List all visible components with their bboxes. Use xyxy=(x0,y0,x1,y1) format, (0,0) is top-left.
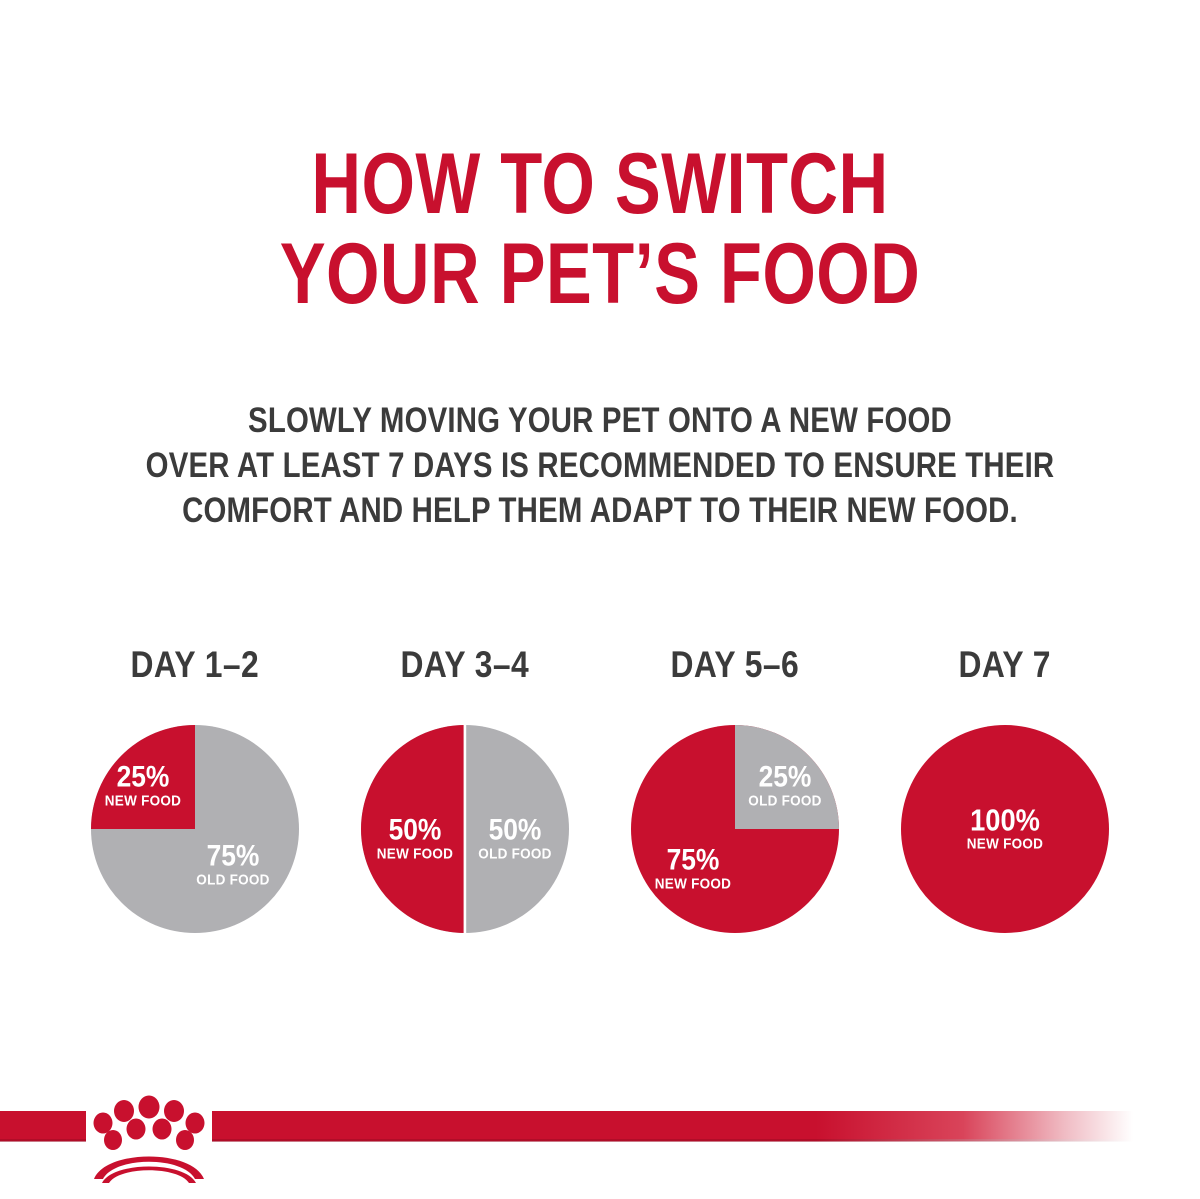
pie-slice-old-food-3 xyxy=(735,725,839,829)
pie-chart-day-7: 100% NEW FOOD xyxy=(901,725,1109,933)
royal-canin-crown-icon xyxy=(86,1093,212,1183)
pie-slice-new-food-1 xyxy=(91,725,195,829)
pie-chart-day-5-6: 25% OLD FOOD 75% NEW FOOD xyxy=(631,725,839,933)
day-label-1: DAY 1–2 xyxy=(131,645,260,685)
day-label-4: DAY 7 xyxy=(959,645,1051,685)
subtitle: SLOWLY MOVING YOUR PET ONTO A NEW FOOD O… xyxy=(0,398,1200,533)
page-title: HOW TO SWITCH YOUR PET’S FOOD xyxy=(0,139,1200,319)
chart-cell-day-3-4: DAY 3–4 50% NEW FOOD 50% OLD FOOD xyxy=(330,645,600,933)
infographic-canvas: HOW TO SWITCH YOUR PET’S FOOD SLOWLY MOV… xyxy=(0,0,1200,1199)
pie-slice-new-food-2 xyxy=(361,725,465,933)
footer xyxy=(0,1099,1200,1199)
chart-cell-day-7: DAY 7 100% NEW FOOD xyxy=(870,645,1140,933)
pie-chart-day-3-4: 50% NEW FOOD 50% OLD FOOD xyxy=(361,725,569,933)
pie-svg-1 xyxy=(91,725,299,933)
pie-svg-4 xyxy=(901,725,1109,933)
day-label-3: DAY 5–6 xyxy=(671,645,800,685)
subtitle-line-2: OVER AT LEAST 7 DAYS IS RECOMMENDED TO E… xyxy=(96,443,1104,488)
title-line-1: HOW TO SWITCH xyxy=(120,139,1080,229)
chart-cell-day-1-2: DAY 1–2 25% NEW FOOD 75% OLD FOOD xyxy=(60,645,330,933)
subtitle-line-3: COMFORT AND HELP THEM ADAPT TO THEIR NEW… xyxy=(96,488,1104,533)
title-line-2: YOUR PET’S FOOD xyxy=(120,229,1080,319)
pie-chart-row: DAY 1–2 25% NEW FOOD 75% OLD FOOD DAY 3–… xyxy=(0,645,1200,933)
pie-divider-2 xyxy=(464,725,467,933)
day-label-2: DAY 3–4 xyxy=(401,645,530,685)
pie-slice-new-food-4 xyxy=(901,725,1109,933)
pie-chart-day-1-2: 25% NEW FOOD 75% OLD FOOD xyxy=(91,725,299,933)
pie-svg-2 xyxy=(361,725,569,933)
crown-logo-svg xyxy=(86,1093,212,1183)
chart-cell-day-5-6: DAY 5–6 25% OLD FOOD 75% NEW FOOD xyxy=(600,645,870,933)
pie-svg-3 xyxy=(631,725,839,933)
subtitle-line-1: SLOWLY MOVING YOUR PET ONTO A NEW FOOD xyxy=(96,398,1104,443)
